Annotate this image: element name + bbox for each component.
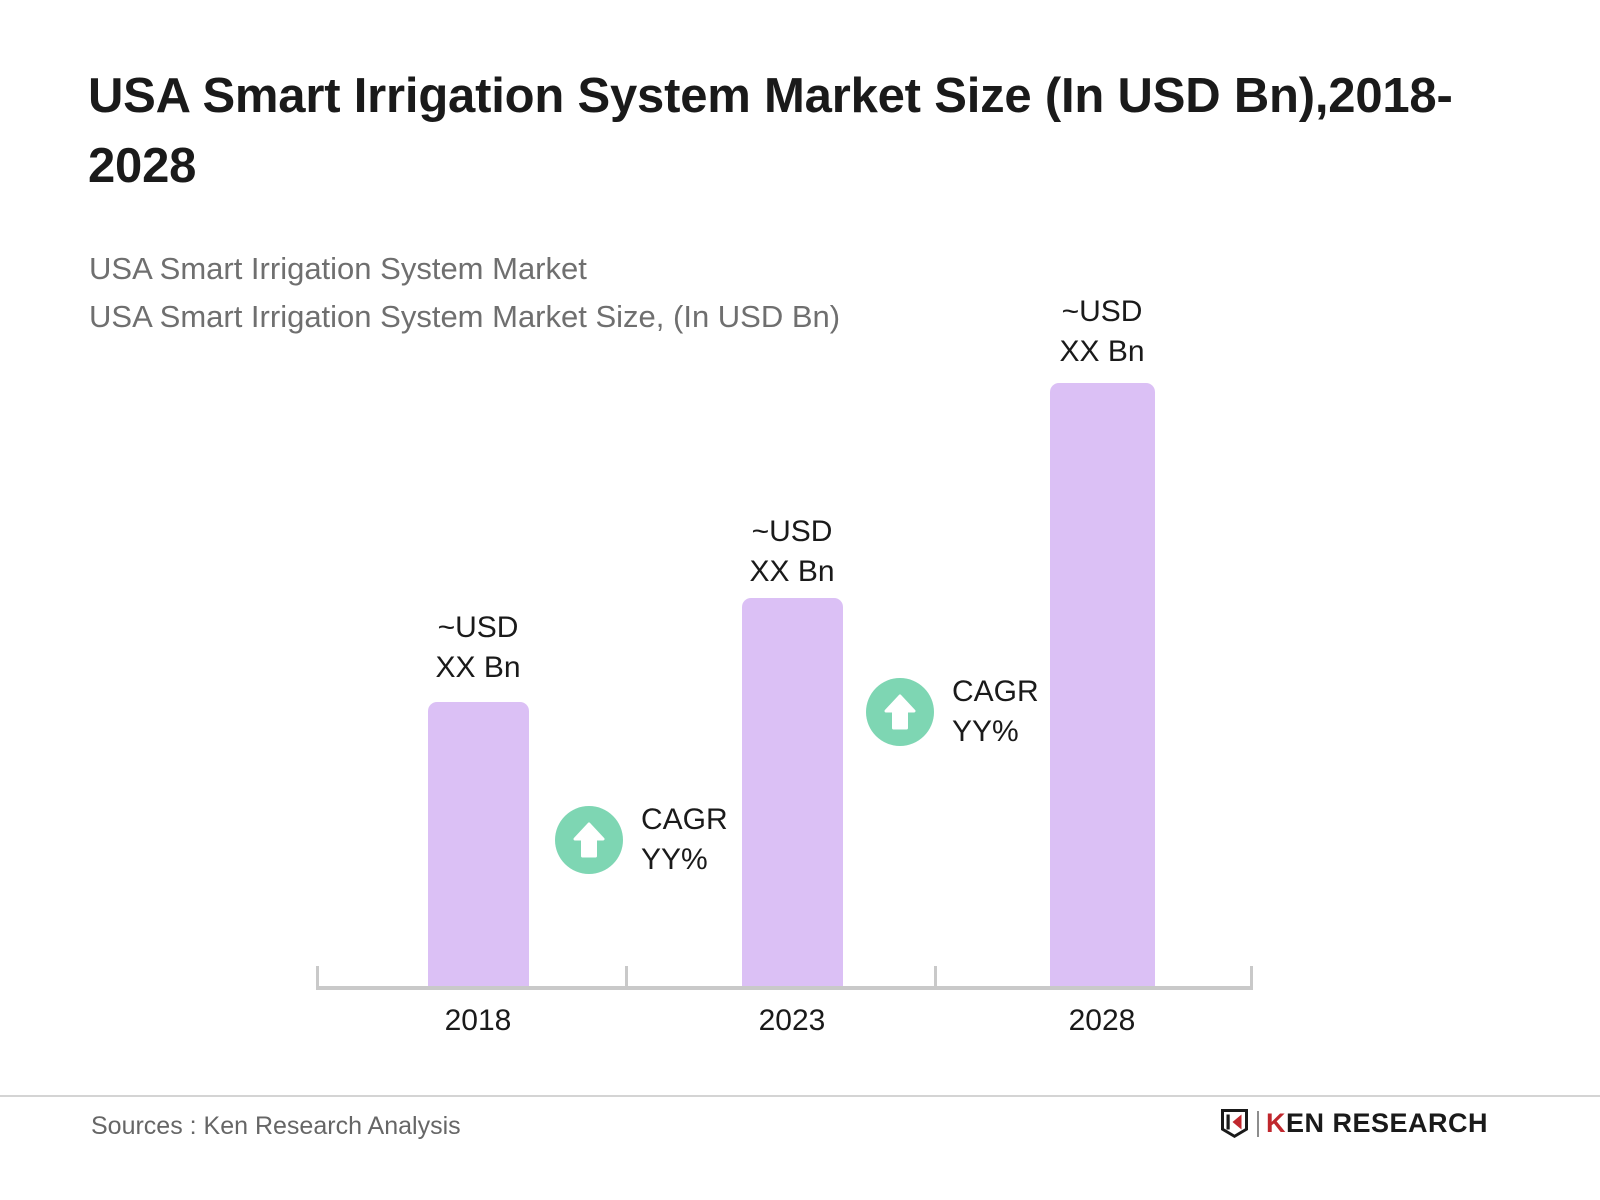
arrow-up-icon xyxy=(555,806,623,874)
bar-label-2028-line-1: ~USD xyxy=(1002,292,1202,332)
arrow-up-icon xyxy=(866,678,934,746)
logo-divider xyxy=(1257,1111,1259,1137)
bar-2028[interactable] xyxy=(1050,383,1155,988)
cagr-label-line-2: YY% xyxy=(641,840,728,880)
bar-label-2018-line-2: XX Bn xyxy=(378,648,578,688)
cagr-label-2023-2028: CAGR YY% xyxy=(952,672,1039,752)
x-axis-label-2028: 2028 xyxy=(1002,1004,1202,1038)
x-axis-tick-2 xyxy=(934,966,937,990)
x-axis-tick-1 xyxy=(625,966,628,990)
footer-divider xyxy=(0,1095,1600,1097)
logo-wordmark-rest: EN RESEARCH xyxy=(1286,1108,1488,1139)
bar-label-2028-line-2: XX Bn xyxy=(1002,332,1202,372)
logo-wordmark: KEN RESEARCH xyxy=(1266,1108,1488,1139)
ken-research-logo-mark-icon xyxy=(1219,1108,1250,1139)
cagr-label-line-1: CAGR xyxy=(641,800,728,840)
cagr-label-line-2: YY% xyxy=(952,712,1039,752)
cagr-annotation-2023-2028: CAGR YY% xyxy=(866,672,1039,752)
x-axis-line xyxy=(316,986,1253,990)
bar-label-2023-line-2: XX Bn xyxy=(692,552,892,592)
ken-research-logo: KEN RESEARCH xyxy=(1219,1108,1488,1139)
x-axis-label-2018: 2018 xyxy=(378,1004,578,1038)
bar-label-2028: ~USD XX Bn xyxy=(1002,292,1202,372)
slide-canvas: USA Smart Irrigation System Market Size … xyxy=(0,0,1600,1200)
x-axis-tick-end xyxy=(1250,966,1253,990)
source-note: Sources : Ken Research Analysis xyxy=(91,1112,461,1141)
cagr-annotation-2018-2023: CAGR YY% xyxy=(555,800,728,880)
bar-2018[interactable] xyxy=(428,702,529,988)
cagr-label-2018-2023: CAGR YY% xyxy=(641,800,728,880)
bar-label-2023: ~USD XX Bn xyxy=(692,512,892,592)
cagr-label-line-1: CAGR xyxy=(952,672,1039,712)
bar-2023[interactable] xyxy=(742,598,843,988)
bar-label-2018: ~USD XX Bn xyxy=(378,608,578,688)
bar-chart: ~USD XX Bn ~USD XX Bn ~USD XX Bn CAGR YY… xyxy=(0,0,1600,1070)
bar-label-2023-line-1: ~USD xyxy=(692,512,892,552)
x-axis-tick-start xyxy=(316,966,319,990)
x-axis-label-2023: 2023 xyxy=(692,1004,892,1038)
bar-label-2018-line-1: ~USD xyxy=(378,608,578,648)
logo-wordmark-k: K xyxy=(1266,1108,1286,1139)
